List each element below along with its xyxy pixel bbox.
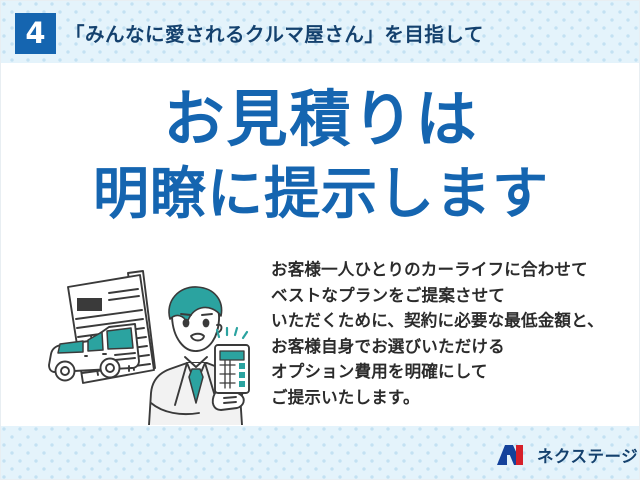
calculator-icon <box>215 328 249 393</box>
body-line: オプション費用を明確にして <box>271 359 631 385</box>
header-tagline: 「みんなに愛されるクルマ屋さん」を目指して <box>65 18 484 47</box>
body-line: お客様一人ひとりのカーライフに合わせて <box>271 257 631 283</box>
body-line: お客様自身でお選びいただける <box>271 334 631 360</box>
body-line: ベストなプランをご提案させて <box>271 283 631 309</box>
advertisement-banner: 4 「みんなに愛されるクルマ屋さん」を目指して お見積りは 明瞭に提示します <box>0 0 640 480</box>
illustration-svg <box>39 253 269 425</box>
body-paragraph: お客様一人ひとりのカーライフに合わせて ベストなプランをご提案させて いただくた… <box>271 257 631 410</box>
brand-name-text: ネクステージ <box>537 443 638 467</box>
brand-logo: ネクステージ <box>496 441 638 469</box>
step-number-badge: 4 <box>15 13 56 54</box>
salesman-illustration <box>39 253 269 425</box>
body-line: いただくために、契約に必要な最低金額と、 <box>271 308 631 334</box>
body-line: ご提示いたします。 <box>271 385 631 411</box>
nextage-n-logo-icon <box>496 443 530 467</box>
headline-line-1: お見積りは <box>1 87 640 153</box>
headline-line-2: 明瞭に提示します <box>1 164 640 226</box>
